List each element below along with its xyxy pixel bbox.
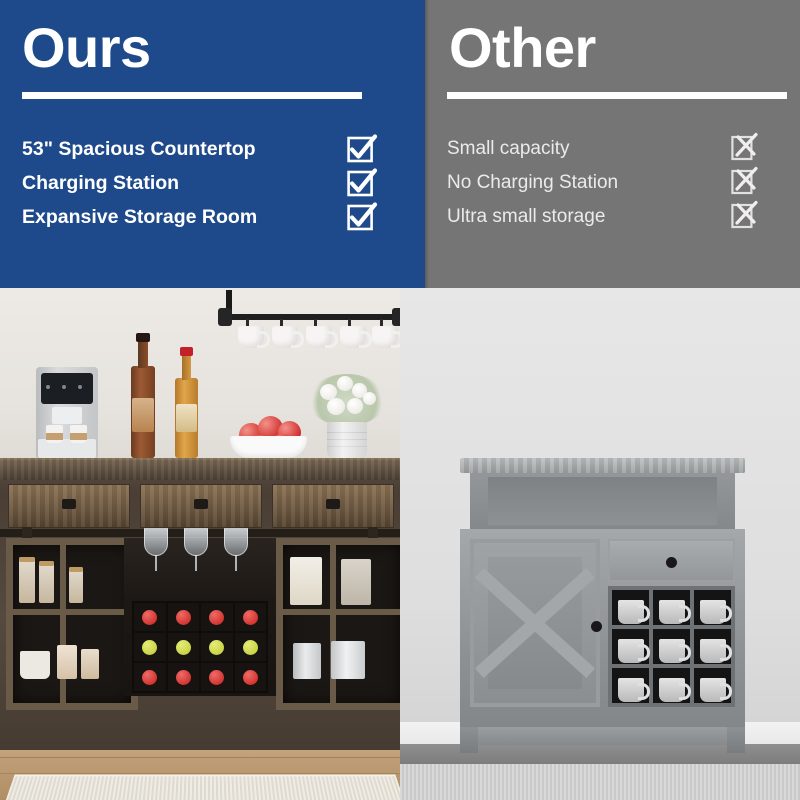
coffee-package [341,559,371,605]
wine-bottle-red [243,670,258,685]
cabinet-countertop [0,458,400,480]
wine-cell [134,603,166,631]
control-dot [62,385,66,389]
hanging-mug [272,326,298,348]
mug-cubby [653,668,690,703]
open-bar-bay [124,538,276,696]
cabinet-drawer [8,484,130,528]
wine-bottle-white [243,640,258,655]
liquor-bottle [131,366,155,458]
wine-bottle-white [209,640,224,655]
drawer-handle [326,499,340,509]
ours-divider-rule [22,92,362,99]
wine-cell [168,603,200,631]
rail-end-right [392,308,400,326]
ours-title: Ours [22,20,151,76]
door-inner-panel [488,557,582,689]
ours-feature-label: Charging Station [22,172,179,195]
other-feature-label: No Charging Station [447,172,618,194]
other-product-photo [400,288,800,800]
area-rug [5,774,400,800]
fruit-bowl [230,436,307,458]
mug [659,678,685,702]
cabinet-leg [727,727,745,753]
drawer-handle [62,499,76,509]
wine-glass [144,528,168,572]
mug [700,678,726,702]
mug [700,600,726,624]
ours-product-photo [0,288,400,800]
storage-jar [19,557,35,603]
bottle-cap [136,333,150,342]
coffee-cup [46,425,63,443]
mug-cubby [612,590,649,625]
checkbox-checked-icon [347,168,376,197]
bottle-label [132,398,154,432]
wine-bottle-red [142,610,157,625]
gray-accent-cabinet [460,458,745,750]
jar-lid [69,567,83,572]
white-flower [327,398,345,415]
mug [659,600,685,624]
jar-lid [39,561,54,566]
mug-cubby [694,629,731,664]
glass-cabinet-door-left [6,538,138,710]
bottle-neck [182,354,191,380]
rail-end-left [218,308,232,326]
checkbox-crossed-icon [731,133,757,161]
checkbox-crossed-icon [731,201,757,229]
mug [618,678,644,702]
coffee-machine [36,367,98,458]
cabinet-plinth [470,727,735,745]
wine-bottle-red [243,610,258,625]
wine-cell [134,663,166,691]
wine-bottle-red [142,670,157,685]
list-item: 53" Spacious Countertop [22,132,447,166]
mug-cubby [694,590,731,625]
bottle-cap [180,347,193,356]
wine-cell [235,663,267,691]
mug-cubby [612,668,649,703]
wine-bottle-red [209,670,224,685]
mug-cubby [653,629,690,664]
wine-bottle-white [142,640,157,655]
checkbox-checked-icon [347,134,376,163]
list-item: Charging Station [22,166,447,200]
cabinet-leg [460,727,478,753]
wine-bottle-red [209,610,224,625]
glass-stem [235,555,237,571]
cabinet-body [460,529,745,727]
control-dot [46,385,50,389]
checkbox-checked-icon [347,202,376,231]
wine-glass [224,528,248,572]
door-mullion [13,609,131,615]
photo-band [0,288,800,800]
hanging-mug [340,326,366,348]
wine-cell [134,633,166,661]
white-flower [347,398,363,414]
glass-stem [155,555,157,571]
door-mullion [60,545,66,703]
wine-cell [168,633,200,661]
mug [659,639,685,663]
coffee-cup [70,425,87,443]
door-mullion [283,609,400,615]
mug-cubby [694,668,731,703]
metal-canister [293,643,321,679]
white-flower [363,392,376,405]
ours-feature-label: 53" Spacious Countertop [22,138,256,161]
glass-cabinet-door-right [276,538,400,710]
cabinet-drawer [608,539,735,582]
ceramic-canister [57,645,77,679]
glass-bowl [224,528,248,556]
hanging-mug [372,326,398,348]
area-rug [400,764,800,800]
door-knob [591,621,602,632]
storage-jar [69,567,83,603]
other-feature-list: Small capacity No Charging Station [447,132,800,234]
liquor-bottle [175,378,198,458]
flower-vase [327,422,367,460]
ceramic-canister [81,649,99,679]
wine-bottle-red [176,670,191,685]
hanging-mug [306,326,332,348]
list-item: Ultra small storage [447,200,800,234]
wine-bottle-white [176,640,191,655]
mug-cubby [612,629,649,664]
glass-bowl [144,528,168,556]
list-item: Expansive Storage Room [22,200,447,234]
open-shelf-interior [488,477,717,525]
barn-door-panel [470,539,600,707]
ours-panel: Ours 53" Spacious Countertop Charging St… [0,0,425,288]
mug [618,639,644,663]
comparison-infographic: Ours 53" Spacious Countertop Charging St… [0,0,800,800]
storage-jar [39,561,54,603]
wine-cell [201,633,233,661]
bottle-label [176,404,197,432]
ours-feature-list: 53" Spacious Countertop Charging Station [22,132,447,234]
drawer-knob [666,557,677,568]
list-item: No Charging Station [447,166,800,200]
checkbox-crossed-icon [731,167,757,195]
other-feature-label: Small capacity [447,138,570,160]
wine-bottle-red [176,610,191,625]
glass-stem [195,555,197,571]
wine-glass [184,528,208,572]
other-divider-rule [447,92,787,99]
coffee-spout [52,407,82,424]
stacked-plates [20,651,50,679]
list-item: Small capacity [447,132,800,166]
mug [618,600,644,624]
wine-cell [201,663,233,691]
drawer-handle [194,499,208,509]
control-dot [78,385,82,389]
other-panel: Other Small capacity No Charging Station [425,0,800,288]
open-shelf [470,473,735,529]
coffee-liquid [70,433,87,440]
cabinet-top [460,458,745,473]
other-feature-label: Ultra small storage [447,206,605,228]
mug-cubby-grid [608,586,735,707]
mug [700,639,726,663]
comparison-band: Ours 53" Spacious Countertop Charging St… [0,0,800,288]
metal-canister [331,641,365,679]
wine-cell [168,663,200,691]
other-title: Other [449,20,596,76]
coffee-package [290,557,322,605]
glass-bowl [184,528,208,556]
mug-cubby [653,590,690,625]
cabinet-drawer [140,484,262,528]
coffee-liquid [46,433,63,440]
wine-cell [201,603,233,631]
door-mullion [330,545,336,703]
wine-bottle-rack [132,601,268,693]
bottle-neck [138,340,148,368]
white-flower [337,376,353,391]
wine-cell [235,633,267,661]
hanging-mug [238,326,264,348]
ours-feature-label: Expansive Storage Room [22,206,257,229]
jar-lid [19,557,35,562]
wine-cell [235,603,267,631]
cabinet-drawer [272,484,394,528]
